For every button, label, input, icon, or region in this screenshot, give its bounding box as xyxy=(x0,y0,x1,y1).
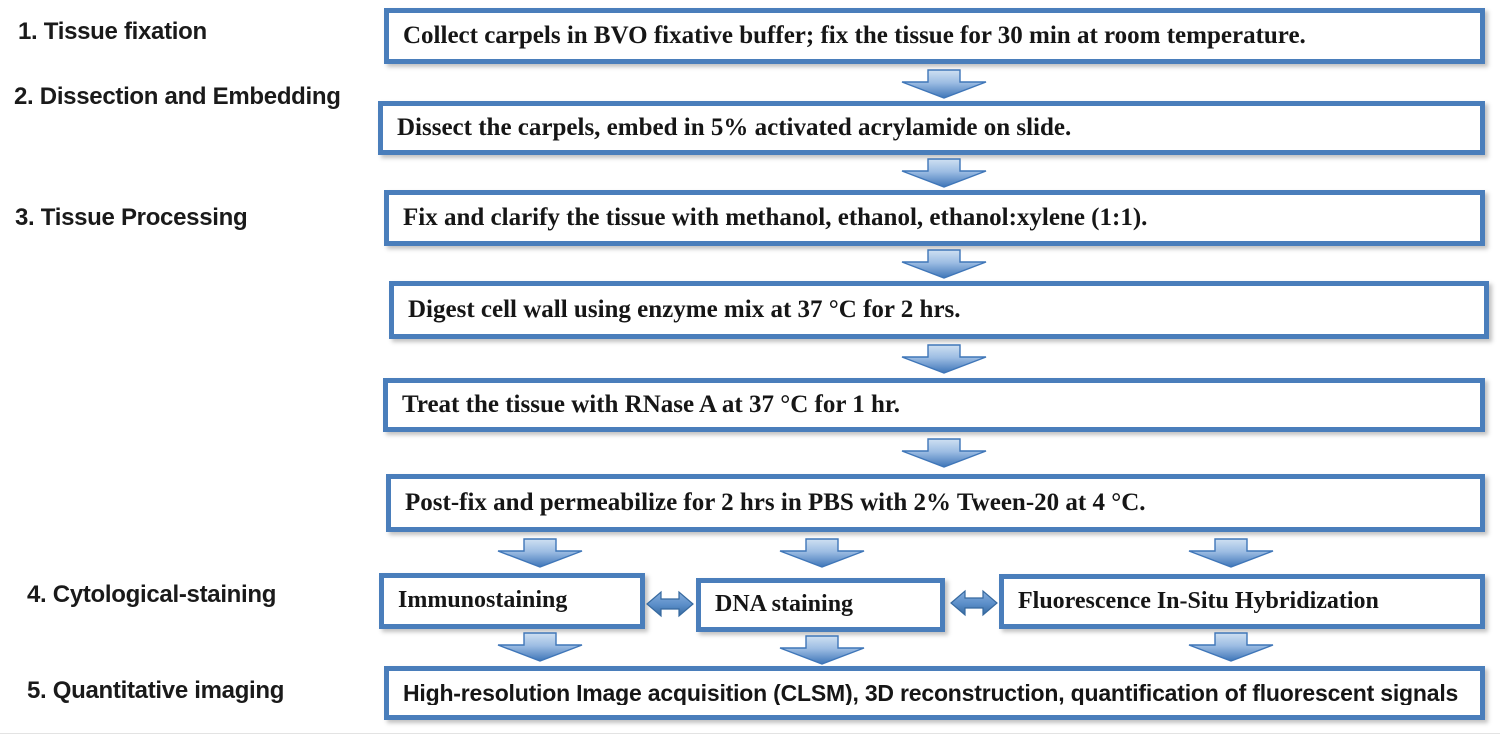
flowchart-canvas: 1. Tissue fixation 2. Dissection and Emb… xyxy=(0,0,1500,734)
process-box-immunostaining[interactable]: Immunostaining xyxy=(379,573,645,629)
down-block-arrow-5 xyxy=(901,438,987,468)
process-box-4-text: Digest cell wall using enzyme mix at 37 … xyxy=(394,297,1484,323)
process-box-3[interactable]: Fix and clarify the tissue with methanol… xyxy=(384,190,1485,246)
process-box-immunostaining-text: Immunostaining xyxy=(384,588,640,613)
process-box-imaging[interactable]: High-resolution Image acquisition (CLSM)… xyxy=(384,666,1485,720)
down-block-arrow-6-left xyxy=(497,538,583,568)
process-box-2-text: Dissect the carpels, embed in 5% activat… xyxy=(383,115,1480,141)
down-block-arrow-7-left xyxy=(497,632,583,662)
down-block-arrow-2 xyxy=(901,158,987,188)
double-headed-arrow-left xyxy=(646,587,694,621)
process-box-4[interactable]: Digest cell wall using enzyme mix at 37 … xyxy=(389,281,1489,339)
process-box-dna-staining[interactable]: DNA staining xyxy=(696,578,945,632)
process-box-1-text: Collect carpels in BVO fixative buffer; … xyxy=(389,23,1480,49)
process-box-2[interactable]: Dissect the carpels, embed in 5% activat… xyxy=(378,101,1485,155)
step-label-2: 2. Dissection and Embedding xyxy=(14,85,341,109)
double-headed-arrow-right xyxy=(950,586,998,620)
step-label-5: 5. Quantitative imaging xyxy=(27,679,284,703)
down-block-arrow-7-middle xyxy=(779,635,865,665)
process-box-5[interactable]: Treat the tissue with RNase A at 37 °C f… xyxy=(383,378,1485,432)
process-box-dna-staining-text: DNA staining xyxy=(701,592,940,617)
down-block-arrow-6-right xyxy=(1188,538,1274,568)
process-box-fish-text: Fluorescence In-Situ Hybridization xyxy=(1004,589,1480,614)
process-box-5-text: Treat the tissue with RNase A at 37 °C f… xyxy=(388,392,1480,418)
process-box-3-text: Fix and clarify the tissue with methanol… xyxy=(389,205,1480,231)
process-box-6-text: Post-fix and permeabilize for 2 hrs in P… xyxy=(391,490,1480,516)
process-box-1[interactable]: Collect carpels in BVO fixative buffer; … xyxy=(384,8,1485,64)
down-block-arrow-4 xyxy=(901,344,987,374)
down-block-arrow-7-right xyxy=(1188,632,1274,662)
down-block-arrow-1 xyxy=(901,69,987,99)
process-box-fish[interactable]: Fluorescence In-Situ Hybridization xyxy=(999,574,1485,629)
down-block-arrow-3 xyxy=(901,249,987,279)
step-label-3: 3. Tissue Processing xyxy=(15,206,247,230)
step-label-4: 4. Cytological-staining xyxy=(27,583,276,607)
process-box-imaging-text: High-resolution Image acquisition (CLSM)… xyxy=(389,681,1480,705)
process-box-6[interactable]: Post-fix and permeabilize for 2 hrs in P… xyxy=(386,474,1485,532)
down-block-arrow-6-middle xyxy=(779,538,865,568)
step-label-1: 1. Tissue fixation xyxy=(18,20,207,44)
